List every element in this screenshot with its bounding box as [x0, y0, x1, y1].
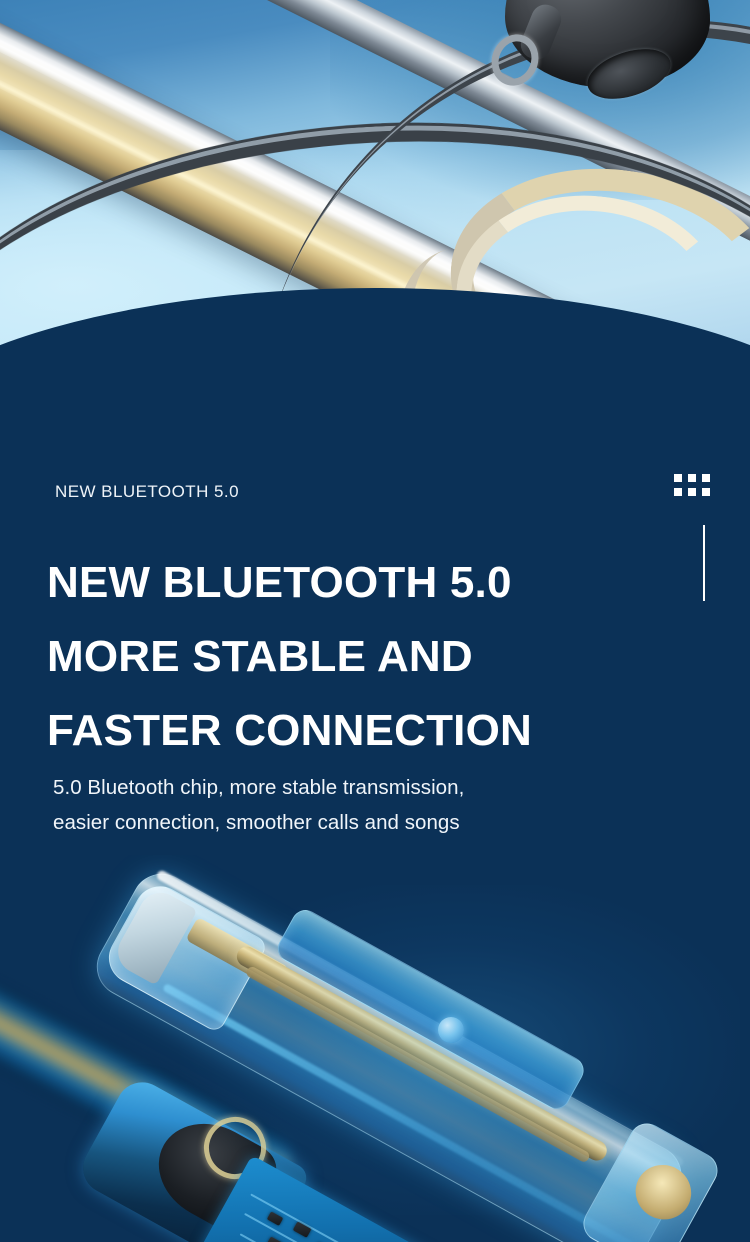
- subcopy-line-1: 5.0 Bluetooth chip, more stable transmis…: [53, 770, 693, 805]
- content-layer: NEW BLUETOOTH 5.0 NEW BLUETOOTH 5.0 MORE…: [0, 0, 750, 1242]
- dot-grid-dot: [688, 474, 696, 482]
- subcopy-line-2: easier connection, smoother calls and so…: [53, 805, 693, 840]
- subcopy-block: 5.0 Bluetooth chip, more stable transmis…: [53, 770, 693, 840]
- eyebrow-label: NEW BLUETOOTH 5.0: [55, 482, 239, 502]
- dot-grid-dot: [674, 488, 682, 496]
- headline-line-2: MORE STABLE AND: [47, 620, 707, 694]
- promo-page: NEW BLUETOOTH 5.0 NEW BLUETOOTH 5.0 MORE…: [0, 0, 750, 1242]
- headline-line-3: FASTER CONNECTION: [47, 694, 707, 768]
- dot-grid-dot: [702, 474, 710, 482]
- headline-line-1: NEW BLUETOOTH 5.0: [47, 546, 707, 620]
- dot-grid-dot: [674, 474, 682, 482]
- dot-grid-icon: [674, 474, 710, 500]
- dot-grid-dot: [702, 488, 710, 496]
- headline-block: NEW BLUETOOTH 5.0 MORE STABLE AND FASTER…: [47, 546, 707, 768]
- dot-grid-dot: [688, 488, 696, 496]
